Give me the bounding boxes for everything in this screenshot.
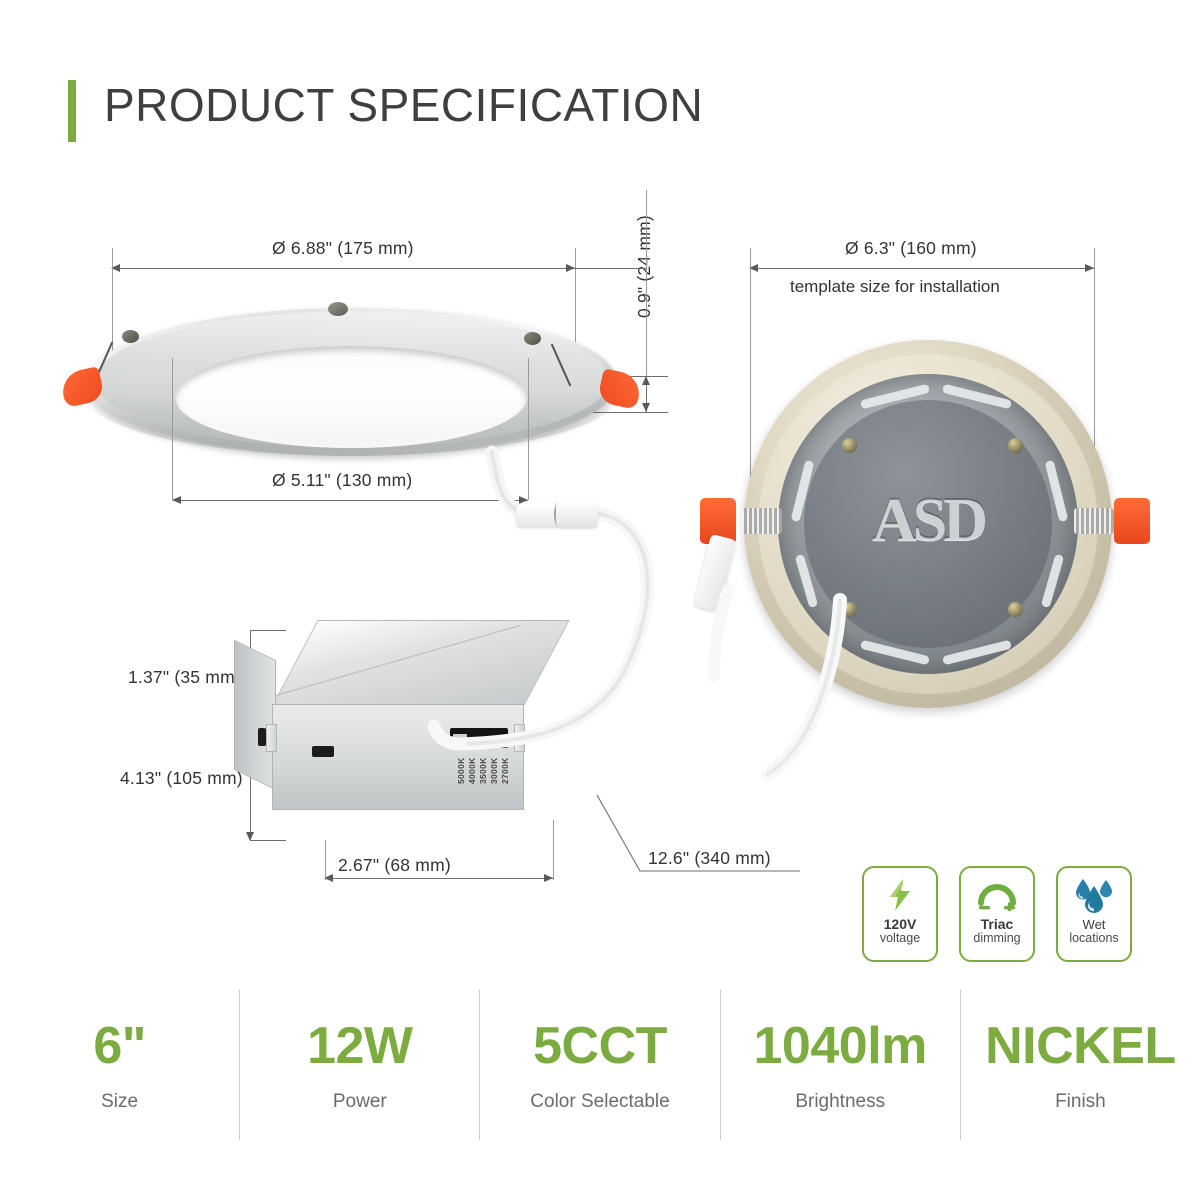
jbox-width-arrow-right	[544, 874, 553, 882]
back-screw	[842, 438, 857, 453]
trim-inner-arrow-left	[172, 496, 181, 504]
trim-ring-top-screw	[328, 302, 348, 316]
jbox-top-height-label: 1.37" (35 mm)	[128, 667, 241, 688]
dimmer-arc-icon	[976, 874, 1018, 916]
cct-selector-switch[interactable]	[450, 728, 508, 748]
cct-option-2700k: 2700K	[500, 757, 510, 784]
template-diameter-label: Ø 6.3" (160 mm)	[845, 238, 977, 259]
cct-option-3500k: 3500K	[478, 757, 488, 784]
template-dimension-line	[750, 268, 1094, 269]
spec-brightness-label: Brightness	[795, 1091, 885, 1113]
lightning-bolt-icon	[885, 874, 915, 916]
back-screw	[842, 602, 857, 617]
trim-spring-hub-right	[524, 332, 541, 345]
spec-power-label: Power	[333, 1091, 387, 1113]
badge-wet-label: locations	[1069, 932, 1118, 946]
page-title: PRODUCT SPECIFICATION	[104, 78, 703, 132]
back-spring-left	[742, 508, 782, 534]
jbox-top-face	[272, 620, 570, 706]
spec-finish-value: NICKEL	[985, 1017, 1176, 1075]
back-view-image: ASD	[736, 340, 1126, 710]
badge-voltage-label: voltage	[880, 932, 920, 946]
badge-voltage[interactable]: 120V voltage	[862, 866, 938, 962]
badge-dimming[interactable]: Triac dimming	[959, 866, 1035, 962]
spec-cct-value: 5CCT	[533, 1017, 667, 1075]
trim-outer-dimension-line	[112, 268, 575, 269]
trim-inner-ext-left	[172, 358, 173, 500]
spec-power-value: 12W	[307, 1017, 412, 1075]
back-screw	[1008, 438, 1023, 453]
trim-inner-diameter-label: Ø 5.11" (130 mm)	[272, 470, 412, 491]
cct-switch-knob[interactable]	[453, 734, 467, 741]
spec-finish-label: Finish	[1055, 1091, 1106, 1113]
connector-male-half	[556, 501, 598, 528]
cct-option-4000k: 4000K	[467, 757, 477, 784]
jbox-tab	[514, 724, 525, 752]
asd-logo: ASD	[848, 470, 1008, 570]
spec-size: 6" Size	[0, 990, 239, 1140]
back-spring-right	[1074, 508, 1114, 534]
trim-inner-dimension-line	[173, 500, 528, 501]
spec-brightness-value: 1040lm	[754, 1017, 927, 1075]
cable-quick-connector	[516, 500, 602, 530]
jbox-left-face	[234, 640, 276, 790]
trim-outer-ext-right-horizontal	[575, 268, 647, 269]
cct-option-5000k: 5000K	[456, 757, 466, 784]
jbox-width-dimension-line	[325, 878, 553, 879]
template-arrow-right	[1085, 264, 1094, 272]
badge-wet-value: Wet	[1083, 917, 1106, 932]
back-spring-clip-right	[1114, 498, 1150, 544]
spec-power: 12W Power	[239, 990, 479, 1140]
spec-brightness: 1040lm Brightness	[720, 990, 960, 1140]
spec-summary-bar: 6" Size 12W Power 5CCT Color Selectable …	[0, 990, 1200, 1140]
jbox-knockout	[312, 746, 334, 757]
badge-wet-locations[interactable]: Wet locations	[1056, 866, 1132, 962]
feature-badges: 120V voltage Triac dimming Wet locati	[862, 866, 1128, 960]
spec-size-label: Size	[101, 1091, 138, 1113]
trim-outer-arrow-right	[566, 264, 575, 272]
trim-ring-aperture	[175, 346, 527, 448]
trim-inner-ext-right	[528, 358, 529, 500]
trim-thickness-ext-vertical	[646, 190, 647, 376]
badge-dimming-value: Triac	[981, 917, 1014, 932]
spec-cct-label: Color Selectable	[530, 1091, 669, 1113]
trim-thickness-arrow-up	[642, 376, 650, 385]
water-droplets-icon	[1072, 874, 1116, 916]
jbox-width-label: 2.67" (68 mm)	[338, 855, 451, 876]
badge-voltage-value: 120V	[884, 917, 917, 932]
jbox-body-height-label: 4.13" (105 mm)	[120, 768, 243, 789]
junction-box-image: 5000K 4000K 3500K 3000K 2700K	[250, 620, 560, 845]
trim-thickness-arrow-down	[642, 403, 650, 412]
trim-outer-diameter-label: Ø 6.88" (175 mm)	[272, 238, 414, 259]
jbox-tab	[266, 724, 277, 752]
page-header: PRODUCT SPECIFICATION	[0, 0, 1200, 170]
trim-spring-hub-left	[122, 330, 139, 343]
spec-size-value: 6"	[93, 1017, 146, 1075]
trim-ring-image	[62, 300, 642, 490]
jbox-width-ext-left	[325, 840, 326, 880]
badge-dimming-label: dimming	[973, 932, 1020, 946]
spec-finish: NICKEL Finish	[960, 990, 1200, 1140]
back-cable-connector	[693, 534, 736, 612]
header-accent-bar	[68, 80, 76, 142]
jbox-knockout	[258, 728, 266, 746]
template-note: template size for installation	[790, 277, 1000, 297]
back-screw	[1008, 602, 1023, 617]
spec-cct: 5CCT Color Selectable	[479, 990, 719, 1140]
cct-option-3000k: 3000K	[489, 757, 499, 784]
cable-length-label: 12.6" (340 mm)	[648, 848, 771, 869]
